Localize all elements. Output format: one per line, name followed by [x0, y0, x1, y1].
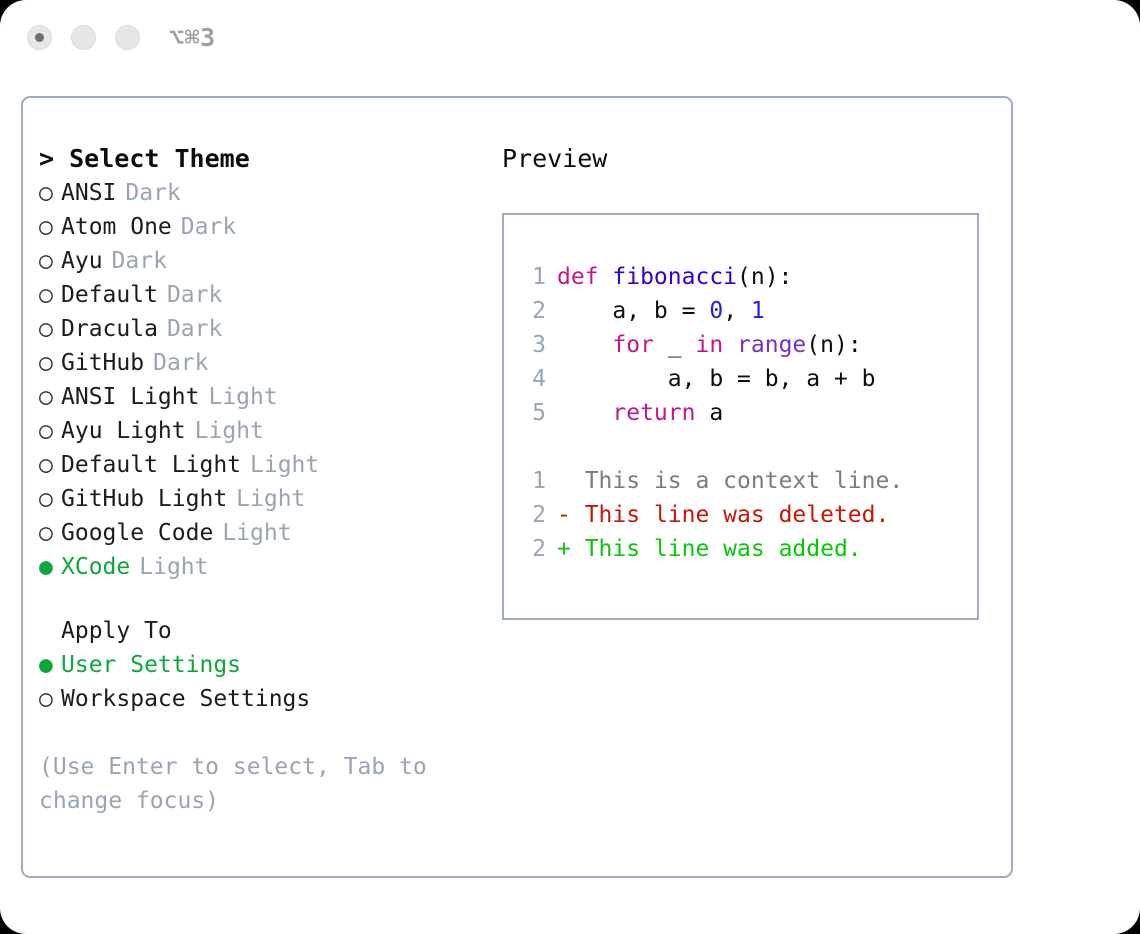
minimize-dot-icon[interactable] [71, 25, 96, 50]
preview-heading: Preview [502, 142, 992, 176]
radio-unselected-icon: ○ [39, 448, 61, 482]
select-theme-label: Select Theme [69, 144, 250, 173]
maximize-dot-icon[interactable] [115, 25, 140, 50]
close-dot-inner [35, 33, 44, 42]
theme-option-tag: Dark [153, 346, 208, 380]
keyboard-shortcut-label: ⌥⌘3 [169, 23, 216, 52]
code-line: 3 for _ in range(n): [522, 328, 903, 362]
theme-option-label: Atom One [61, 210, 172, 244]
apply-to-option-user-settings[interactable]: ●User Settings [39, 648, 469, 682]
theme-option-label: ANSI [61, 176, 116, 210]
code-token-num: 0 [709, 298, 723, 324]
radio-unselected-icon: ○ [39, 244, 61, 278]
theme-option-tag: Dark [181, 210, 236, 244]
theme-option-github-light[interactable]: ○GitHub LightLight [39, 482, 469, 516]
theme-option-tag: Light [250, 448, 319, 482]
radio-selected-icon: ● [39, 550, 61, 584]
theme-option-ayu-light[interactable]: ○Ayu LightLight [39, 414, 469, 448]
theme-option-tag: Light [139, 550, 208, 584]
code-blank-line [522, 430, 903, 464]
spacer [39, 584, 469, 614]
diff-marker [557, 468, 571, 494]
radio-unselected-icon: ○ [39, 278, 61, 312]
caret-icon: > [39, 144, 54, 173]
diff-line-number: 1 [522, 464, 546, 498]
panel-columns: > Select Theme ○ANSIDark○Atom OneDark○Ay… [23, 98, 1011, 876]
theme-option-tag: Dark [125, 176, 180, 210]
theme-option-label: XCode [61, 550, 130, 584]
diff-line-number: 2 [522, 532, 546, 566]
theme-option-tag: Dark [112, 244, 167, 278]
radio-unselected-icon: ○ [39, 312, 61, 346]
theme-option-google-code[interactable]: ○Google CodeLight [39, 516, 469, 550]
diff-marker: - [557, 502, 571, 528]
code-line-number: 4 [522, 362, 546, 396]
theme-option-ansi[interactable]: ○ANSIDark [39, 176, 469, 210]
diff-line: 2- This line was deleted. [522, 498, 903, 532]
diff-line: 1 This is a context line. [522, 464, 903, 498]
theme-option-dracula[interactable]: ○DraculaDark [39, 312, 469, 346]
app-window: ⌥⌘3 > Select Theme ○ANSIDark○Atom OneDar… [0, 0, 1140, 934]
theme-option-label: ANSI Light [61, 380, 199, 414]
theme-option-label: Dracula [61, 312, 158, 346]
diff-text: This line was added. [571, 536, 862, 562]
theme-option-tag: Light [222, 516, 291, 550]
code-line-number: 5 [522, 396, 546, 430]
theme-option-ayu[interactable]: ○AyuDark [39, 244, 469, 278]
theme-option-atom-one[interactable]: ○Atom OneDark [39, 210, 469, 244]
theme-option-tag: Light [236, 482, 305, 516]
code-token-pl: a, b = [557, 298, 709, 324]
theme-option-tag: Dark [167, 278, 222, 312]
diff-text: This is a context line. [571, 468, 903, 494]
radio-selected-icon: ● [39, 648, 61, 682]
theme-option-tag: Light [195, 414, 264, 448]
spacer [39, 716, 469, 750]
apply-to-option-workspace-settings[interactable]: ○Workspace Settings [39, 682, 469, 716]
apply-to-option-label: Workspace Settings [61, 682, 310, 716]
code-token-pl [723, 332, 737, 358]
radio-unselected-icon: ○ [39, 414, 61, 448]
preview-box: 1def fibonacci(n):2 a, b = 0, 13 for _ i… [502, 213, 979, 620]
code-line: 1def fibonacci(n): [522, 260, 903, 294]
theme-option-label: Google Code [61, 516, 213, 550]
code-line-number: 3 [522, 328, 546, 362]
apply-to-list: ●User Settings○Workspace Settings [39, 648, 469, 716]
radio-unselected-icon: ○ [39, 482, 61, 516]
diff-text: This line was deleted. [571, 502, 890, 528]
radio-unselected-icon: ○ [39, 516, 61, 550]
theme-selector-column: > Select Theme ○ANSIDark○Atom OneDark○Ay… [39, 142, 469, 818]
code-line-number: 2 [522, 294, 546, 328]
theme-option-label: Ayu [61, 244, 103, 278]
code-token-bi: range [737, 332, 806, 358]
theme-option-github[interactable]: ○GitHubDark [39, 346, 469, 380]
theme-list: ○ANSIDark○Atom OneDark○AyuDark○DefaultDa… [39, 176, 469, 584]
preview-column: Preview 1def fibonacci(n):2 a, b = 0, 13… [502, 142, 992, 620]
code-token-pl: a, b = b, a + b [557, 366, 876, 392]
code-token-pl [557, 332, 612, 358]
window-controls [27, 25, 140, 50]
code-preview: 1def fibonacci(n):2 a, b = 0, 13 for _ i… [522, 260, 903, 566]
close-dot-icon[interactable] [27, 25, 52, 50]
code-token-kw: return [612, 400, 695, 426]
radio-unselected-icon: ○ [39, 176, 61, 210]
code-token-kw: for [612, 332, 654, 358]
theme-option-tag: Dark [167, 312, 222, 346]
code-line-number: 1 [522, 260, 546, 294]
code-token-pl: a [695, 400, 723, 426]
radio-unselected-icon: ○ [39, 682, 61, 716]
code-line: 2 a, b = 0, 1 [522, 294, 903, 328]
hint-text: (Use Enter to select, Tab to change focu… [39, 750, 449, 818]
theme-option-xcode[interactable]: ●XCodeLight [39, 550, 469, 584]
diff-line: 2+ This line was added. [522, 532, 903, 566]
title-bar: ⌥⌘3 [0, 0, 1140, 80]
code-token-kw: def [557, 264, 612, 290]
code-token-fn: fibonacci [612, 264, 737, 290]
diff-marker: + [557, 536, 571, 562]
theme-option-tag: Light [208, 380, 277, 414]
code-line: 4 a, b = b, a + b [522, 362, 903, 396]
theme-option-label: Default Light [61, 448, 241, 482]
radio-unselected-icon: ○ [39, 346, 61, 380]
diff-line-number: 2 [522, 498, 546, 532]
code-line: 5 return a [522, 396, 903, 430]
radio-unselected-icon: ○ [39, 380, 61, 414]
theme-option-default-light[interactable]: ○Default LightLight [39, 448, 469, 482]
theme-option-ansi-light[interactable]: ○ANSI LightLight [39, 380, 469, 414]
theme-option-label: GitHub [61, 346, 144, 380]
radio-unselected-icon: ○ [39, 210, 61, 244]
code-token-pl: (n): [737, 264, 792, 290]
theme-option-label: Default [61, 278, 158, 312]
select-theme-heading: > Select Theme [39, 142, 469, 176]
apply-to-heading: Apply To [39, 614, 469, 648]
code-token-pl [557, 400, 612, 426]
apply-to-option-label: User Settings [61, 648, 241, 682]
code-token-pl: (n): [806, 332, 861, 358]
theme-option-default[interactable]: ○DefaultDark [39, 278, 469, 312]
main-panel: > Select Theme ○ANSIDark○Atom OneDark○Ay… [21, 96, 1013, 878]
code-token-kw: in [695, 332, 723, 358]
theme-option-label: Ayu Light [61, 414, 186, 448]
code-token-pl: , [723, 298, 751, 324]
code-token-num: 1 [751, 298, 765, 324]
code-token-pl: _ [654, 332, 696, 358]
theme-option-label: GitHub Light [61, 482, 227, 516]
